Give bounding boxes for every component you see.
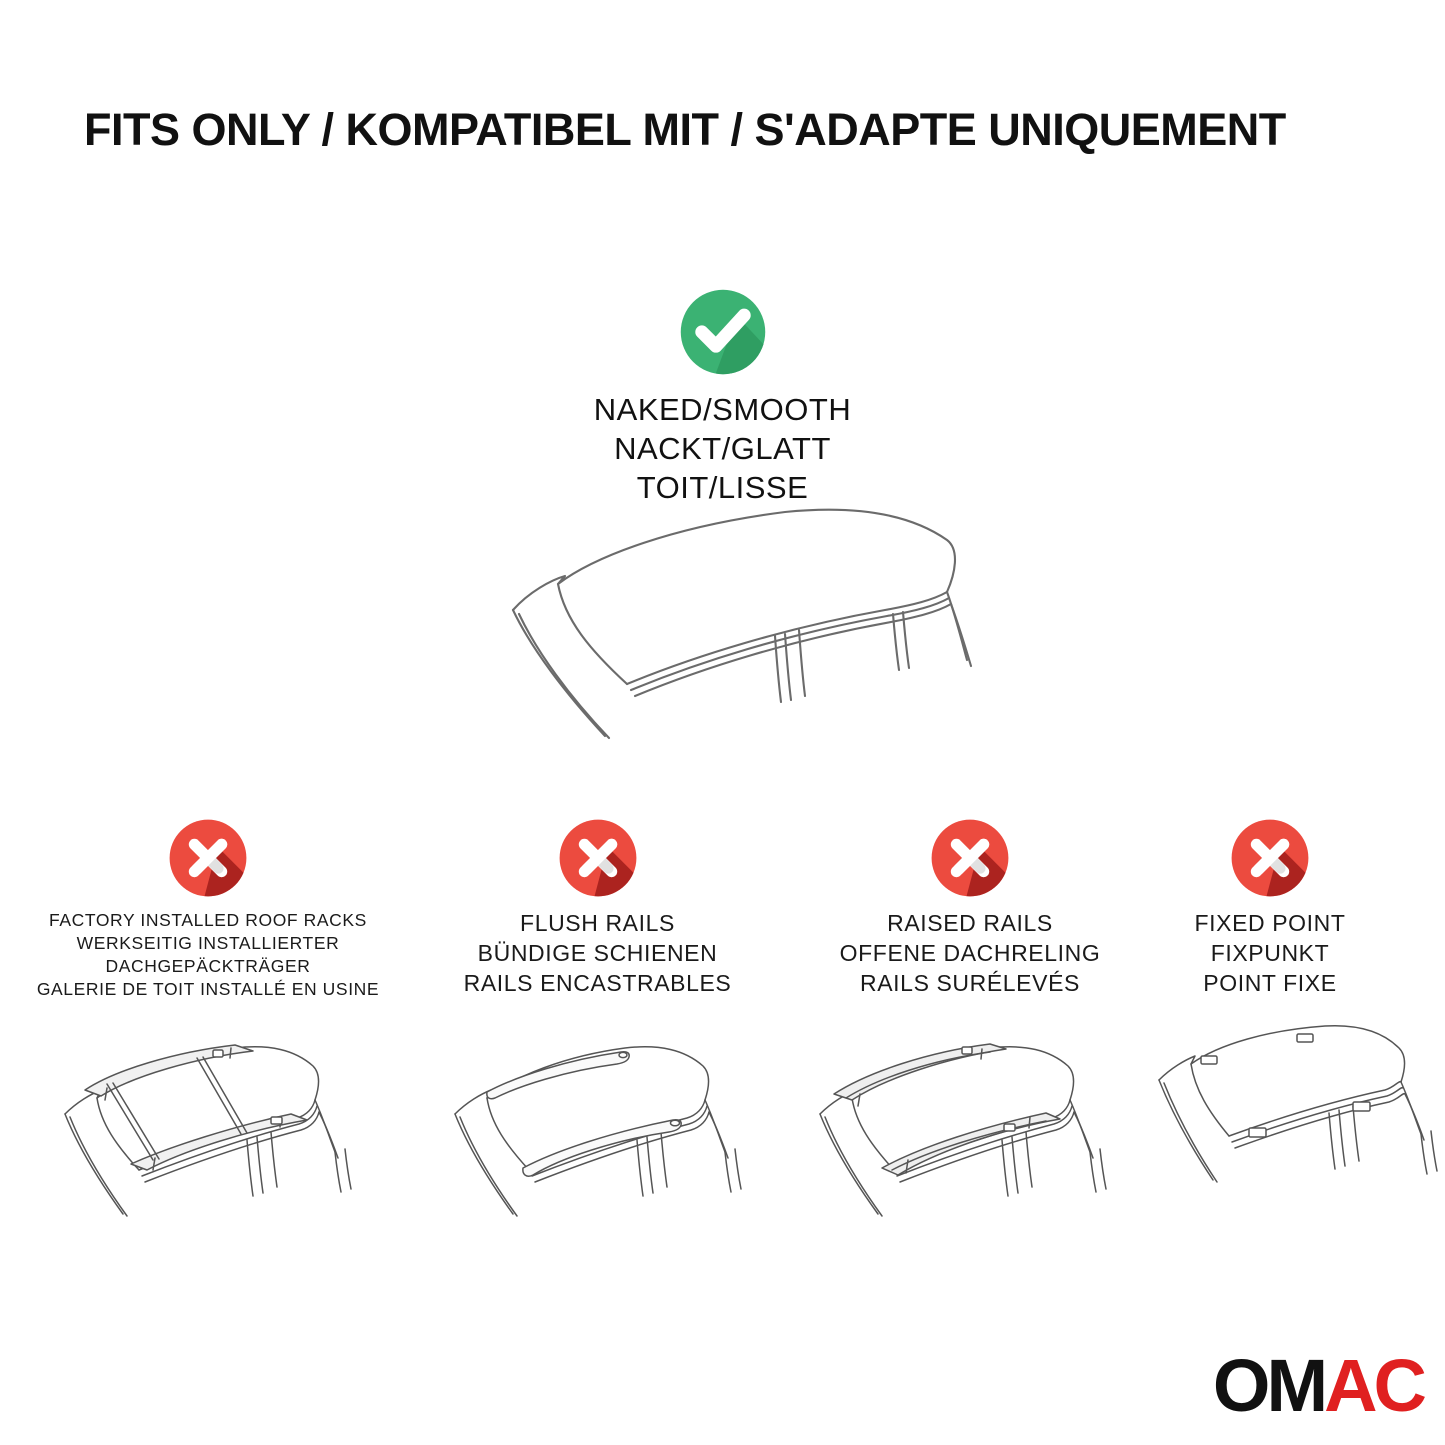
green-check-circle-icon — [679, 288, 767, 376]
label-en: RAISED RAILS — [840, 909, 1101, 939]
brand-name-part1: OM — [1213, 1349, 1324, 1423]
label-de-line2: DACHGEPÄCKTRÄGER — [37, 955, 379, 978]
smooth-roof-illustration — [455, 488, 1025, 758]
raised-rails-illustration — [790, 1018, 1170, 1268]
incompatible-labels-fixed-point: FIXED POINT FIXPUNKT POINT FIXE — [1194, 909, 1345, 999]
label-de: FIXPUNKT — [1194, 939, 1345, 969]
incompatible-item-fixed-point: FIXED POINT FIXPUNKT POINT FIXE — [1150, 818, 1390, 999]
label-de: BÜNDIGE SCHIENEN — [464, 939, 732, 969]
incompatible-labels-flush-rails: FLUSH RAILS BÜNDIGE SCHIENEN RAILS ENCAS… — [464, 909, 732, 999]
red-cross-circle-icon — [1230, 818, 1310, 898]
label-de-line1: WERKSEITIG INSTALLIERTER — [37, 932, 379, 955]
label-fr: POINT FIXE — [1194, 969, 1345, 999]
brand-logo: OM AC — [1213, 1349, 1423, 1423]
label-fr: RAILS SURÉLEVÉS — [840, 969, 1101, 999]
incompatible-labels-factory-roof-racks: FACTORY INSTALLED ROOF RACKS WERKSEITIG … — [37, 909, 379, 1001]
incompatible-labels-raised-rails: RAISED RAILS OFFENE DACHRELING RAILS SUR… — [840, 909, 1101, 999]
compatible-section: NAKED/SMOOTH NACKT/GLATT TOIT/LISSE — [0, 288, 1445, 507]
brand-name-part2: AC — [1324, 1349, 1423, 1423]
flush-rails-illustration — [425, 1018, 805, 1268]
label-fr: GALERIE DE TOIT INSTALLÉ EN USINE — [37, 978, 379, 1001]
label-en: FACTORY INSTALLED ROOF RACKS — [37, 909, 379, 932]
compatible-label-de: NACKT/GLATT — [594, 429, 851, 468]
incompatible-item-flush-rails: FLUSH RAILS BÜNDIGE SCHIENEN RAILS ENCAS… — [400, 818, 795, 999]
label-de: OFFENE DACHRELING — [840, 939, 1101, 969]
incompatible-item-factory-roof-racks: FACTORY INSTALLED ROOF RACKS WERKSEITIG … — [8, 818, 408, 1001]
label-fr: RAILS ENCASTRABLES — [464, 969, 732, 999]
red-cross-circle-icon — [930, 818, 1010, 898]
fixed-point-illustration — [1145, 1018, 1445, 1268]
red-cross-circle-icon — [558, 818, 638, 898]
label-en: FIXED POINT — [1194, 909, 1345, 939]
compatible-label-en: NAKED/SMOOTH — [594, 390, 851, 429]
label-en: FLUSH RAILS — [464, 909, 732, 939]
incompatible-item-raised-rails: RAISED RAILS OFFENE DACHRELING RAILS SUR… — [775, 818, 1165, 999]
factory-roof-rack-illustration — [35, 1018, 415, 1268]
red-cross-circle-icon — [168, 818, 248, 898]
page-title: FITS ONLY / KOMPATIBEL MIT / S'ADAPTE UN… — [84, 104, 1374, 156]
